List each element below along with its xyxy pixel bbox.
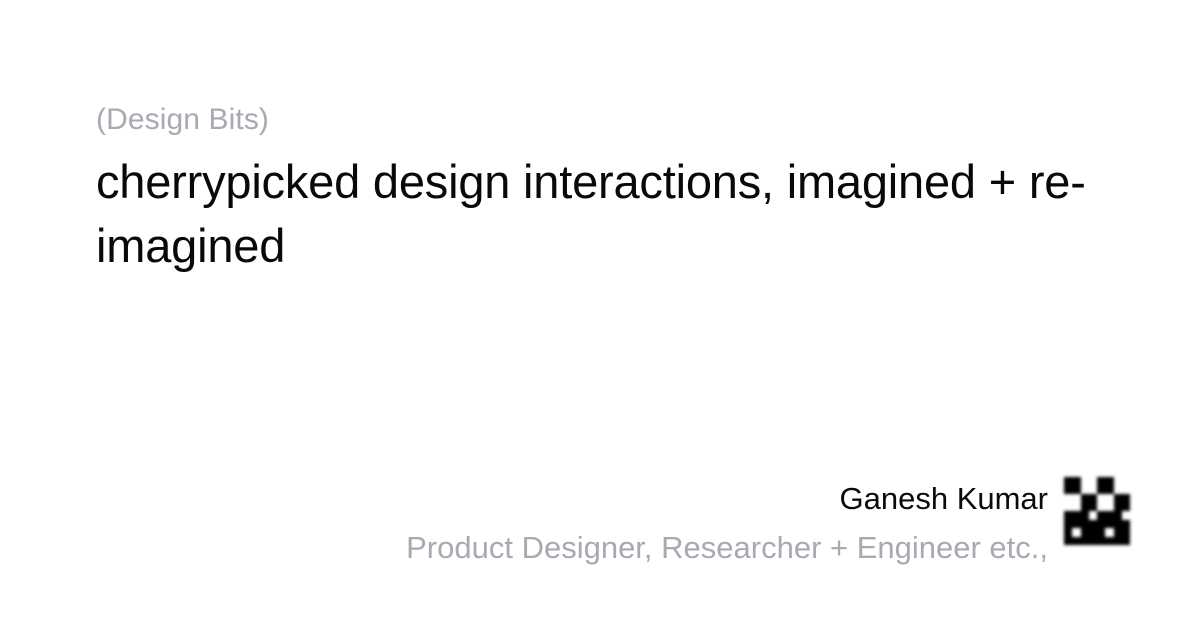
author-text: Ganesh Kumar Product Designer, Researche… [406,477,1064,568]
avatar-pixel [1081,503,1089,512]
avatar-pixel [1114,503,1122,512]
card-footer: Ganesh Kumar Product Designer, Researche… [406,477,1130,568]
pixel-identicon-avatar-icon [1064,477,1130,545]
avatar-pixel [1064,486,1072,495]
author-block: Ganesh Kumar Product Designer, Researche… [406,477,1130,568]
avatar-pixel [1105,494,1113,503]
avatar-pixel [1114,494,1122,503]
avatar-pixel [1064,528,1072,537]
avatar-pixel [1064,503,1072,512]
avatar-pixel [1064,537,1072,546]
card-headline: cherrypicked design interactions, imagin… [96,150,1111,278]
avatar-pixel [1122,511,1130,520]
avatar-pixel [1105,486,1113,495]
avatar-pixel [1081,477,1089,486]
avatar-pixel [1064,477,1072,486]
avatar-pixel [1064,511,1072,520]
avatar-pixel [1122,494,1130,503]
avatar-pixel [1105,477,1113,486]
avatar-pixel [1081,494,1089,503]
avatar-pixel [1081,537,1089,546]
avatar-pixel [1097,486,1105,495]
avatar-pixel [1072,528,1080,537]
avatar-pixel [1105,537,1113,546]
avatar-pixel [1122,528,1130,537]
avatar-pixel [1122,503,1130,512]
card-header: (Design Bits) cherrypicked design intera… [96,100,1116,278]
avatar-pixel [1081,528,1089,537]
avatar-pixel [1089,511,1097,520]
avatar-pixel [1072,494,1080,503]
avatar-pixel [1072,503,1080,512]
avatar-pixel [1114,511,1122,520]
avatar-pixel [1081,520,1089,529]
avatar-pixel [1114,486,1122,495]
avatar-pixel [1105,520,1113,529]
avatar-pixel [1114,477,1122,486]
avatar-pixel [1089,528,1097,537]
avatar-pixel [1081,511,1089,520]
avatar-pixel [1122,537,1130,546]
share-card: (Design Bits) cherrypicked design intera… [0,0,1200,630]
avatar-pixel [1072,486,1080,495]
avatar-pixel [1064,520,1072,529]
avatar-pixel [1089,494,1097,503]
avatar-pixel [1114,528,1122,537]
avatar-pixel [1089,486,1097,495]
avatar-pixel [1064,494,1072,503]
avatar-pixel [1122,520,1130,529]
author-role: Product Designer, Researcher + Engineer … [406,528,1048,568]
avatar-pixel [1089,477,1097,486]
card-eyebrow: (Design Bits) [96,100,1116,140]
avatar-pixel [1089,503,1097,512]
avatar-pixel [1097,537,1105,546]
avatar-pixel [1114,520,1122,529]
avatar-pixel [1105,528,1113,537]
avatar-pixel [1097,520,1105,529]
avatar-pixel [1072,511,1080,520]
avatar-pixel [1097,528,1105,537]
avatar-pixel [1089,537,1097,546]
avatar-pixel [1122,486,1130,495]
avatar-pixel [1072,477,1080,486]
avatar-pixel [1114,537,1122,546]
avatar-pixel [1072,537,1080,546]
avatar-pixel [1081,486,1089,495]
avatar-pixel [1097,511,1105,520]
avatar-pixel [1097,477,1105,486]
avatar-pixel [1105,511,1113,520]
avatar-pixel [1122,477,1130,486]
author-name: Ganesh Kumar [840,479,1049,519]
avatar-pixel [1105,503,1113,512]
avatar-pixel [1097,503,1105,512]
avatar-pixel [1072,520,1080,529]
avatar-pixel [1089,520,1097,529]
avatar-pixel [1097,494,1105,503]
